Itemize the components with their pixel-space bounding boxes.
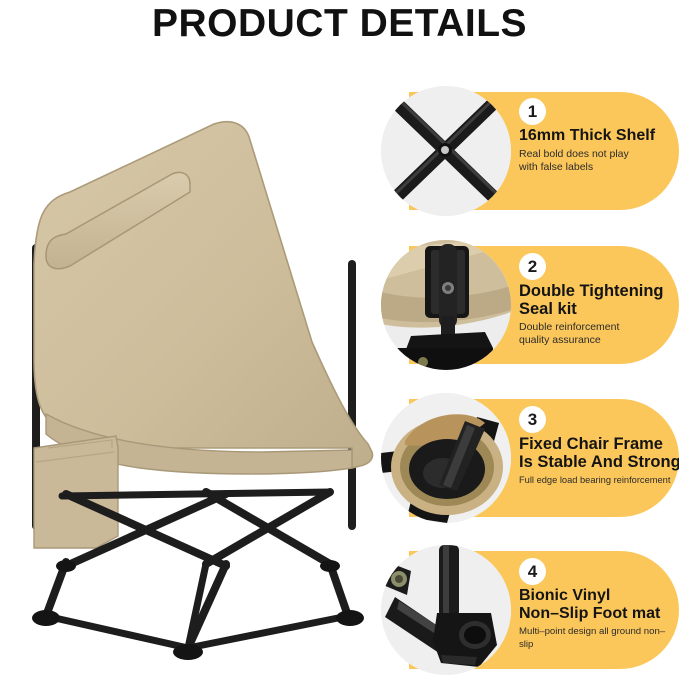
feature-subtitle-line: with false labels	[519, 161, 671, 174]
feature-panel-1: 1 16mm Thick Shelf Real bold does not pl…	[381, 86, 679, 216]
feature-title-line: Non–Slip Foot mat	[519, 605, 671, 623]
product-hero-image	[0, 96, 385, 668]
feature-text-4: 4 Bionic Vinyl Non–Slip Foot mat Multi–p…	[519, 551, 671, 669]
feature-title-3: Fixed Chair Frame Is Stable And Strong	[519, 435, 671, 471]
feature-subtitle-4: Multi–point design all ground non–slip	[519, 626, 671, 651]
feature-title-line: Seal kit	[519, 300, 671, 318]
feature-subtitle-line: Multi–point design all ground non–slip	[519, 626, 671, 651]
feature-panel-4: 4 Bionic Vinyl Non–Slip Foot mat Multi–p…	[381, 545, 679, 675]
chair-fabric	[34, 122, 373, 548]
feature-subtitle-3: Full edge load bearing reinforcement	[519, 474, 671, 487]
feature-title-line: Bionic Vinyl	[519, 587, 671, 605]
feature-title-line: Is Stable And Strong	[519, 453, 671, 471]
feature-title-line: Double Tightening	[519, 282, 671, 300]
feature-title-1: 16mm Thick Shelf	[519, 127, 671, 145]
feature-panel-3: 3 Fixed Chair Frame Is Stable And Strong…	[381, 393, 679, 523]
tube-clamp-seal-photo	[381, 240, 511, 370]
feature-subtitle-line: Double reinforcement	[519, 321, 671, 334]
feature-title-line: Fixed Chair Frame	[519, 435, 671, 453]
page-title: PRODUCT DETAILS	[0, 2, 679, 46]
feature-title-2: Double Tightening Seal kit	[519, 282, 671, 318]
feature-text-3: 3 Fixed Chair Frame Is Stable And Strong…	[519, 399, 671, 517]
feature-title-4: Bionic Vinyl Non–Slip Foot mat	[519, 587, 671, 623]
feature-subtitle-2: Double reinforcement quality assurance	[519, 321, 671, 346]
feature-subtitle-line: Full edge load bearing reinforcement	[519, 474, 671, 487]
x-cross-bracket-photo	[381, 86, 511, 216]
feature-number-badge-1: 1	[519, 98, 546, 125]
feature-subtitle-line: quality assurance	[519, 334, 671, 347]
foot-mat-joint-photo	[381, 545, 511, 675]
feature-number-badge-2: 2	[519, 253, 546, 280]
fabric-sleeve-corner-photo	[381, 393, 511, 523]
feature-text-2: 2 Double Tightening Seal kit Double rein…	[519, 246, 671, 364]
feature-number-badge-4: 4	[519, 558, 546, 585]
feature-panel-2: 2 Double Tightening Seal kit Double rein…	[381, 240, 679, 370]
feature-number-badge-3: 3	[519, 406, 546, 433]
feature-subtitle-line: Real bold does not play	[519, 148, 671, 161]
feature-subtitle-1: Real bold does not play with false label…	[519, 148, 671, 173]
feature-text-1: 1 16mm Thick Shelf Real bold does not pl…	[519, 92, 671, 210]
